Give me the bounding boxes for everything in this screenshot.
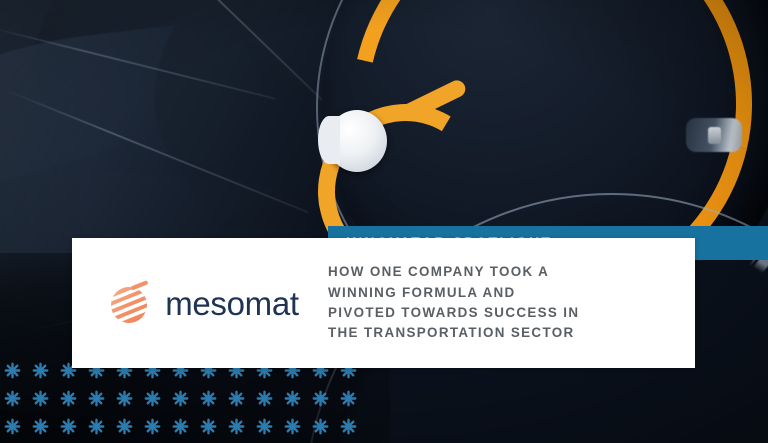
asterisk-icon (0, 412, 26, 440)
asterisk-icon (306, 384, 334, 412)
asterisk-icon (278, 412, 306, 440)
asterisk-icon (54, 384, 82, 412)
asterisk-icon (166, 412, 194, 440)
headline-line-4: THE TRANSPORTATION SECTOR (328, 323, 681, 343)
asterisk-icon (250, 412, 278, 440)
asterisk-icon (194, 412, 222, 440)
asterisk-icon (110, 412, 138, 440)
asterisk-icon (222, 384, 250, 412)
headline-line-3: PIVOTED TOWARDS SUCCESS IN (328, 303, 681, 323)
asterisk-icon (110, 384, 138, 412)
asterisk-icon (334, 412, 362, 440)
asterisk-icon (0, 356, 26, 384)
asterisk-icon (222, 412, 250, 440)
headline-line-2: WINNING FORMULA AND (328, 283, 681, 303)
promo-banner-canvas: INNOVATOR SPOTLIGHT (0, 0, 768, 443)
mesomat-wordmark: mesomat (165, 287, 299, 320)
headline-line-1: HOW ONE COMPANY TOOK A (328, 262, 681, 282)
asterisk-decoration-grid (0, 356, 362, 440)
asterisk-icon (278, 384, 306, 412)
content-card: mesomat HOW ONE COMPANY TOOK A WINNING F… (72, 238, 695, 368)
headline-block: HOW ONE COMPANY TOOK A WINNING FORMULA A… (328, 238, 695, 368)
mesomat-planet-mark-icon (107, 280, 154, 327)
asterisk-icon (26, 412, 54, 440)
asterisk-icon (138, 384, 166, 412)
asterisk-icon (166, 384, 194, 412)
asterisk-icon (0, 384, 26, 412)
asterisk-icon (306, 412, 334, 440)
asterisk-icon (54, 412, 82, 440)
asterisk-icon (194, 384, 222, 412)
asterisk-icon (250, 384, 278, 412)
asterisk-icon (82, 384, 110, 412)
asterisk-icon (26, 384, 54, 412)
asterisk-icon (138, 412, 166, 440)
asterisk-icon (82, 412, 110, 440)
company-logo: mesomat (72, 238, 328, 368)
asterisk-icon (26, 356, 54, 384)
asterisk-icon (334, 384, 362, 412)
